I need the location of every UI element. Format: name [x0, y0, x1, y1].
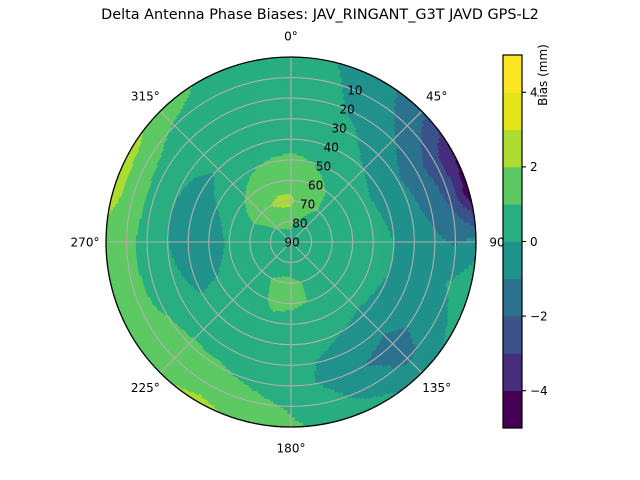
radial-tick-50: 50: [316, 159, 331, 173]
colorbar-tick-label: 2: [530, 160, 538, 174]
angular-tick-225: 225°: [131, 381, 160, 395]
angular-tick-45: 45°: [426, 90, 447, 104]
radial-tick-70: 70: [300, 197, 315, 211]
colorbar-band: [503, 353, 522, 391]
colorbar-band: [503, 204, 522, 242]
radial-tick-10: 10: [347, 83, 362, 97]
colorbar-band: [503, 279, 522, 317]
colorbar-tick-label: 0: [530, 235, 538, 249]
angular-tick-135: 135°: [422, 381, 451, 395]
colorbar-band: [503, 130, 522, 168]
radial-tick-30: 30: [332, 121, 347, 135]
colorbar-band: [503, 92, 522, 130]
angular-tick-0: 0°: [284, 29, 298, 43]
figure-canvas: Delta Antenna Phase Biases: JAV_RINGANT_…: [0, 0, 640, 480]
colorbar-band: [503, 242, 522, 280]
angular-tick-270: 270°: [71, 235, 100, 249]
colorbar-tick-label: −2: [530, 309, 548, 323]
colorbar-tick-label: −4: [530, 384, 548, 398]
colorbar-band: [503, 167, 522, 205]
angular-tick-315: 315°: [131, 90, 160, 104]
colorbar-band: [503, 391, 522, 429]
colorbar-band: [503, 55, 522, 93]
angular-tick-180: 180°: [277, 441, 306, 455]
colorbar-band: [503, 316, 522, 354]
radial-tick-90: 90: [284, 235, 299, 249]
radial-tick-60: 60: [308, 178, 323, 192]
colorbar-axis-label: Bias (mm): [536, 0, 550, 160]
angular-tick-90: 90: [489, 235, 504, 249]
radial-tick-40: 40: [324, 140, 339, 154]
radial-tick-80: 80: [292, 216, 307, 230]
radial-tick-20: 20: [339, 102, 354, 116]
